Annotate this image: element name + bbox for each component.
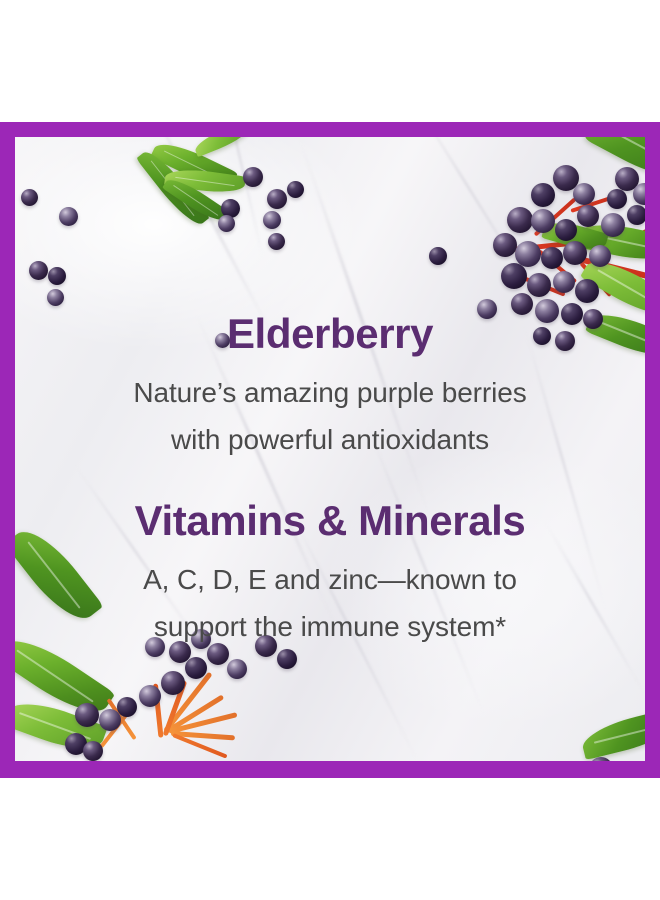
leaf-vein xyxy=(17,650,93,702)
subcopy-line: Nature’s amazing purple berries xyxy=(15,369,645,416)
cluster-berry xyxy=(75,703,99,727)
heading-vitamins-minerals: Vitamins & Minerals xyxy=(15,463,645,542)
subcopy-elderberry: Nature’s amazing purple berries with pow… xyxy=(15,355,645,463)
cluster-berry xyxy=(83,741,103,761)
subcopy-line: with powerful antioxidants xyxy=(15,416,645,463)
heading-elderberry: Elderberry xyxy=(15,137,645,355)
promo-copy: Elderberry Nature’s amazing purple berri… xyxy=(15,137,645,650)
cluster-berry xyxy=(227,659,247,679)
subcopy-line: support the immune system* xyxy=(15,603,645,650)
leaf-vein xyxy=(593,725,645,744)
cluster-berry xyxy=(139,685,161,707)
leaf-bottom-right xyxy=(579,708,645,760)
subcopy-line: A, C, D, E and zinc—known to xyxy=(15,556,645,603)
cluster-berry xyxy=(277,649,297,669)
cluster-berry xyxy=(99,709,121,731)
cluster-berry xyxy=(161,671,185,695)
cluster-berry xyxy=(117,697,137,717)
subcopy-vitamins-minerals: A, C, D, E and zinc—known to support the… xyxy=(15,542,645,650)
cluster-berry xyxy=(185,657,207,679)
